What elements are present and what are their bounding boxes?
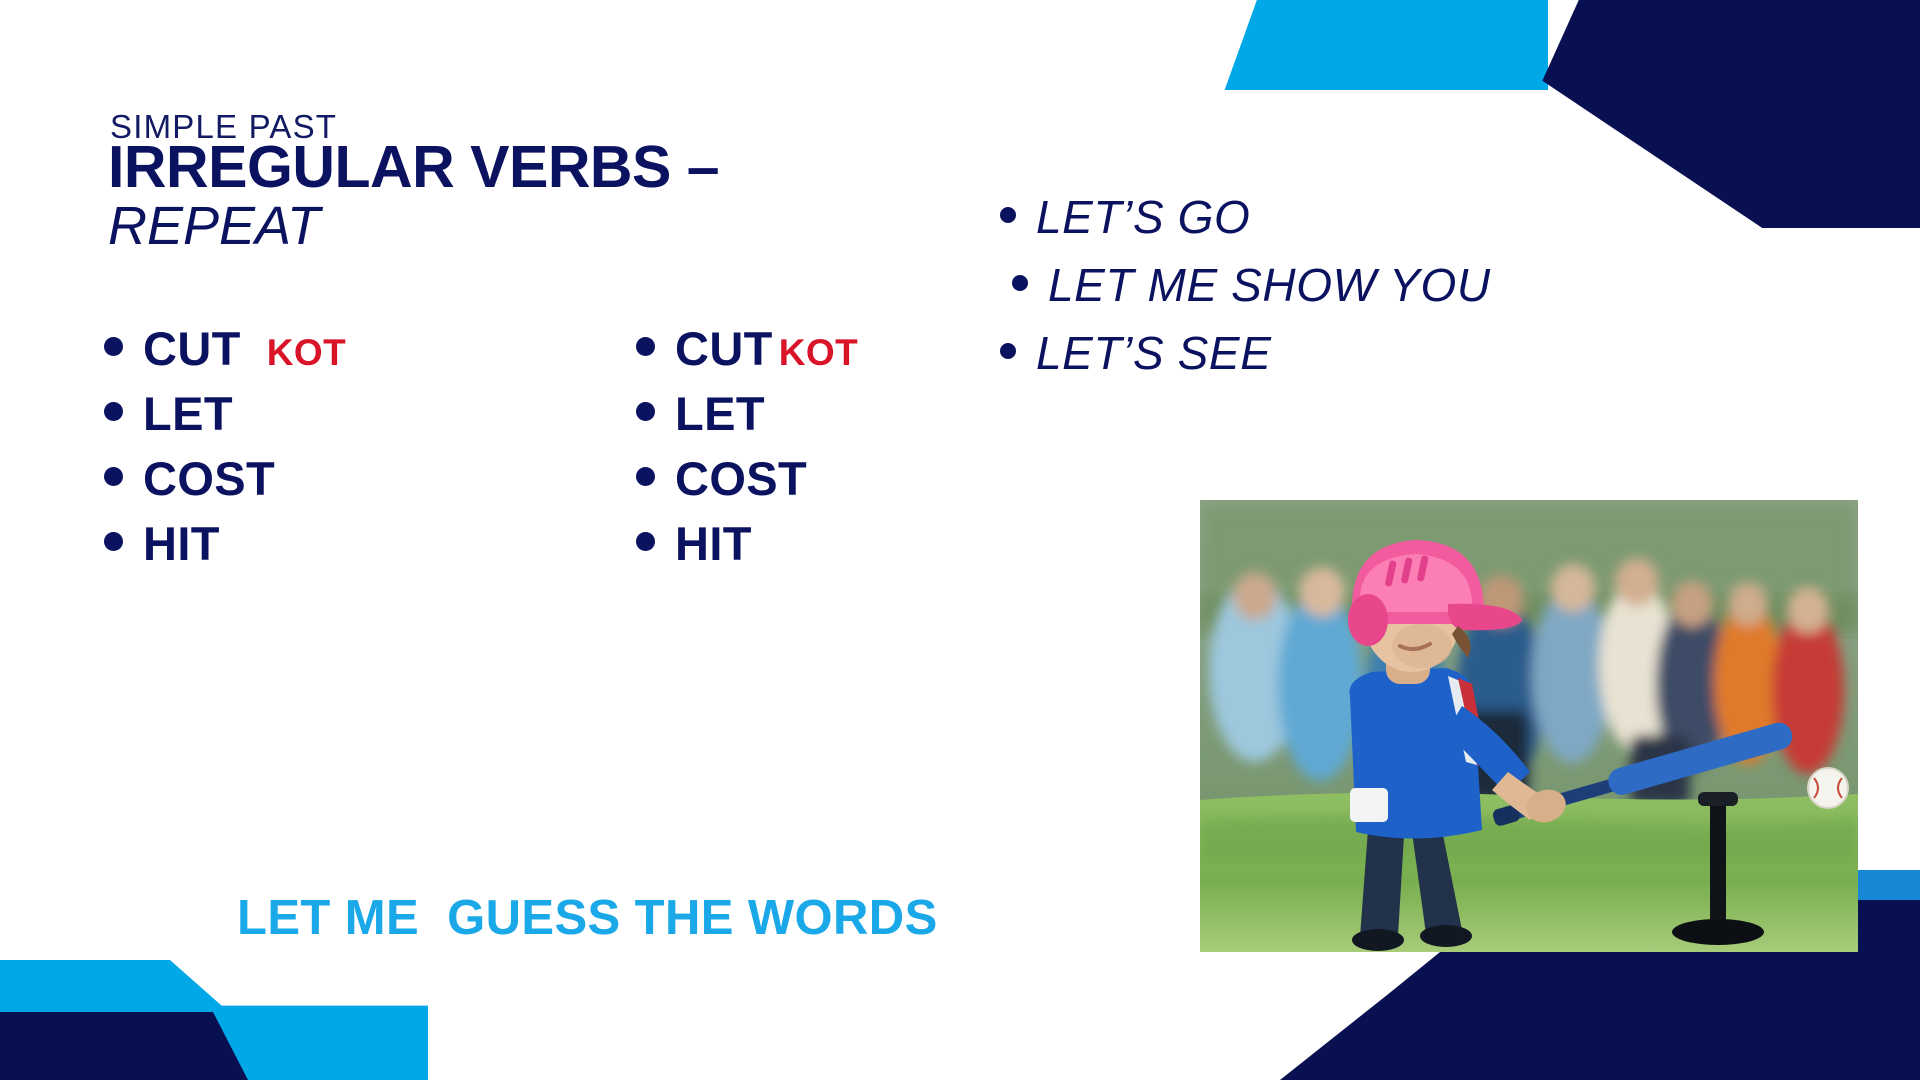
slide-canvas: SIMPLE PAST IRREGULAR VERBS – REPEAT CUT… [0,0,1920,1080]
verb-word: HIT [675,513,752,576]
photo-illustration [1200,500,1858,952]
decoration-top-right-cyan [1218,0,1548,90]
phrase-list-item: LET’S SEE [1000,326,1491,380]
page-subtitle: REPEAT [108,198,1088,255]
page-title: IRREGULAR VERBS – [108,137,1088,198]
bullet-dot-icon [104,532,123,551]
verb-list-item: LET [636,383,858,446]
verb-translation: KOT [779,328,858,378]
phrase-text: LET ME SHOW YOU [1048,258,1491,312]
verb-word: HIT [143,513,220,576]
decoration-bottom-left-navy [0,1012,248,1080]
tee-ball-photo [1200,500,1858,952]
phrase-list: LET’S GO LET ME SHOW YOU LET’S SEE [1000,190,1491,394]
verb-list-item: CUT KOT [636,318,858,381]
verb-word: COST [675,448,807,511]
bullet-dot-icon [636,467,655,486]
verb-list-column-two: CUT KOT LET COST HIT [636,318,858,578]
bullet-dot-icon [1000,343,1016,359]
verb-list-item: LET [104,383,346,446]
decoration-top-right-navy [1505,0,1920,228]
verb-word: CUT [143,318,241,381]
verb-list-item: COST [636,448,858,511]
bullet-dot-icon [1000,207,1016,223]
title-block: IRREGULAR VERBS – REPEAT [108,137,1088,256]
verb-word: COST [143,448,275,511]
phrase-text: LET’S GO [1036,190,1250,244]
verb-translation: KOT [267,328,346,378]
verb-word: LET [143,383,233,446]
phrase-text: LET’S SEE [1036,326,1272,380]
verb-word: CUT [675,318,773,381]
footer-prompt-text: LET ME GUESS THE WORDS [237,890,938,946]
verb-list-item: HIT [104,513,346,576]
bullet-dot-icon [636,532,655,551]
phrase-list-item: LET’S GO [1000,190,1491,244]
bullet-dot-icon [104,402,123,421]
bullet-dot-icon [104,337,123,356]
bullet-dot-icon [636,337,655,356]
verb-list-item: HIT [636,513,858,576]
bullet-dot-icon [104,467,123,486]
bullet-dot-icon [1012,275,1028,291]
verb-word: LET [675,383,765,446]
verb-list-item: CUT KOT [104,318,346,381]
phrase-list-item: LET ME SHOW YOU [1000,258,1491,312]
bullet-dot-icon [636,402,655,421]
verb-list-item: COST [104,448,346,511]
verb-list-column-one: CUT KOT LET COST HIT [104,318,346,578]
